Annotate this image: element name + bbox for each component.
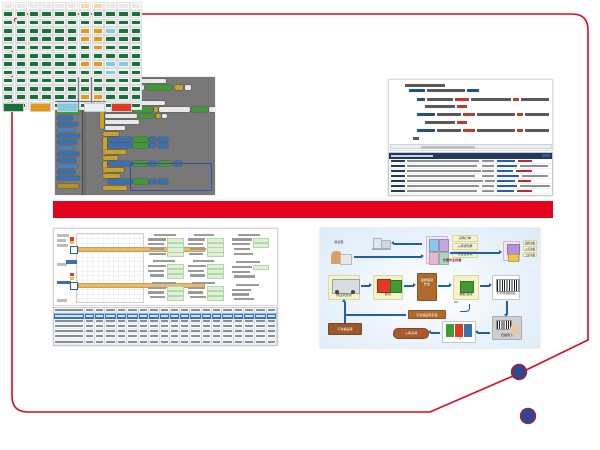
table-cell[interactable] [117, 339, 127, 343]
status-cell[interactable] [15, 77, 27, 85]
status-cell[interactable] [92, 19, 104, 27]
table-cell[interactable] [117, 329, 127, 333]
status-cell[interactable] [79, 77, 91, 85]
status-cell[interactable] [2, 19, 14, 27]
status-cell[interactable] [28, 93, 40, 101]
status-cell[interactable] [15, 35, 27, 43]
status-cell[interactable] [92, 35, 104, 43]
status-cell[interactable] [66, 93, 78, 101]
table-cell[interactable] [127, 345, 139, 346]
table-cell[interactable] [54, 319, 85, 323]
flow-node-mid[interactable] [70, 282, 78, 290]
status-cell[interactable] [28, 2, 40, 10]
node-nonconform-return[interactable]: 不合格品库 [328, 323, 362, 335]
status-cell[interactable] [117, 35, 129, 43]
status-cell[interactable] [28, 77, 40, 85]
table-cell[interactable] [127, 308, 139, 313]
status-cell[interactable] [53, 19, 65, 27]
table-cell[interactable] [170, 324, 180, 328]
status-cell[interactable] [66, 52, 78, 60]
table-cell[interactable] [267, 334, 277, 338]
workspace-block[interactable] [146, 85, 172, 90]
table-cell[interactable] [85, 334, 95, 338]
status-cell[interactable] [28, 19, 40, 27]
table-cell[interactable] [105, 329, 117, 333]
palette-block[interactable] [57, 158, 76, 162]
status-cell[interactable] [28, 60, 40, 68]
status-cell[interactable] [2, 68, 14, 76]
table-cell[interactable] [117, 334, 127, 338]
status-cell[interactable] [2, 10, 14, 18]
status-cell[interactable] [40, 43, 52, 51]
table-cell[interactable] [117, 345, 127, 346]
status-cell[interactable] [40, 19, 52, 27]
node-nonconform-zone[interactable]: 不合格品暂存区 [408, 310, 446, 319]
status-cell[interactable] [28, 52, 40, 60]
status-cell[interactable] [2, 43, 14, 51]
node-report-output[interactable] [503, 241, 520, 261]
table-cell[interactable] [170, 308, 180, 313]
status-cell[interactable] [66, 85, 78, 93]
table-cell[interactable] [85, 345, 95, 346]
status-cell[interactable] [2, 60, 14, 68]
palette-block[interactable] [57, 140, 77, 144]
node-supplier-delivery[interactable]: 供应商送货 [328, 275, 360, 300]
status-cell[interactable] [130, 77, 142, 85]
table-cell[interactable] [95, 319, 105, 323]
status-cell[interactable] [104, 10, 116, 18]
status-cell[interactable] [15, 93, 27, 101]
table-cell[interactable] [244, 345, 256, 346]
status-cell[interactable] [104, 77, 116, 85]
table-cell[interactable] [190, 345, 202, 346]
status-cell[interactable] [40, 2, 52, 10]
status-cell[interactable] [15, 60, 27, 68]
status-cell[interactable] [66, 43, 78, 51]
status-cell[interactable] [53, 27, 65, 35]
status-cell[interactable] [28, 43, 40, 51]
status-cell[interactable] [53, 68, 65, 76]
table-cell[interactable] [234, 319, 244, 323]
status-cell[interactable] [104, 19, 116, 27]
sheet-toolbar-chip[interactable] [57, 239, 66, 242]
sheet-toolbar-chip[interactable] [57, 244, 68, 247]
table-cell[interactable] [54, 329, 85, 333]
workspace-block[interactable] [185, 85, 191, 90]
table-cell[interactable] [105, 324, 117, 328]
status-cell[interactable] [117, 93, 129, 101]
workspace-block[interactable] [158, 137, 168, 142]
table-cell[interactable] [244, 319, 256, 323]
status-cell[interactable] [66, 27, 78, 35]
table-cell[interactable] [54, 334, 85, 338]
panel-flow-diagram[interactable]: 收货员 采购订单 入库通知单 作业任务单 仓储作业终端 [320, 228, 540, 348]
table-cell[interactable] [149, 329, 161, 333]
table-cell[interactable] [127, 334, 139, 338]
status-cell[interactable] [79, 2, 91, 10]
status-cell[interactable] [92, 27, 104, 35]
status-cell[interactable] [130, 10, 142, 18]
node-order-terminal[interactable] [370, 236, 392, 252]
workspace-block[interactable] [209, 107, 215, 112]
status-cell[interactable] [53, 35, 65, 43]
table-cell[interactable] [255, 345, 267, 346]
table-cell[interactable] [139, 319, 149, 323]
table-cell[interactable] [234, 334, 244, 338]
table-cell[interactable] [180, 308, 190, 313]
node-supplier-person[interactable] [328, 248, 352, 268]
table-cell[interactable] [267, 339, 277, 343]
table-cell[interactable] [54, 324, 85, 328]
workspace-block[interactable] [191, 107, 208, 112]
table-cell[interactable] [139, 339, 149, 343]
workspace-block[interactable] [105, 126, 125, 130]
status-cell[interactable] [15, 10, 27, 18]
table-cell[interactable] [180, 319, 190, 323]
table-cell[interactable] [85, 308, 95, 313]
workspace-block[interactable] [105, 120, 139, 124]
workspace-block[interactable] [108, 137, 132, 142]
table-cell[interactable] [267, 308, 277, 313]
status-cell[interactable] [40, 60, 52, 68]
table-cell[interactable] [190, 334, 202, 338]
table-cell[interactable] [54, 308, 85, 313]
table-cell[interactable] [160, 339, 170, 343]
table-cell[interactable] [212, 339, 222, 343]
status-cell[interactable] [2, 77, 14, 85]
table-cell[interactable] [190, 339, 202, 343]
status-cell[interactable] [28, 68, 40, 76]
status-cell[interactable] [117, 27, 129, 35]
node-barcode-scan[interactable]: 扫描录入 [492, 316, 522, 340]
status-cell[interactable] [66, 68, 78, 76]
table-cell[interactable] [127, 324, 139, 328]
table-cell[interactable] [54, 345, 85, 346]
status-cell[interactable] [66, 2, 78, 10]
status-cell[interactable] [15, 68, 27, 76]
table-cell[interactable] [267, 324, 277, 328]
status-cell[interactable] [40, 10, 52, 18]
table-cell[interactable] [170, 329, 180, 333]
table-cell[interactable] [95, 308, 105, 313]
table-cell[interactable] [244, 329, 256, 333]
status-cell[interactable] [117, 68, 129, 76]
table-cell[interactable] [160, 345, 170, 346]
table-cell[interactable] [54, 339, 85, 343]
status-cell[interactable] [15, 27, 27, 35]
workspace-block[interactable] [154, 107, 158, 112]
palette-block[interactable] [57, 134, 80, 138]
table-cell[interactable] [85, 324, 95, 328]
status-cell[interactable] [92, 10, 104, 18]
status-cell[interactable] [117, 2, 129, 10]
schedule-grid[interactable] [76, 233, 144, 303]
node-unloading[interactable]: 卸货 [373, 275, 403, 300]
table-cell[interactable] [222, 308, 234, 313]
table-cell[interactable] [212, 334, 222, 338]
table-cell[interactable] [149, 334, 161, 338]
status-cell[interactable] [2, 85, 14, 93]
table-cell[interactable] [180, 339, 190, 343]
table-cell[interactable] [139, 329, 149, 333]
status-cell[interactable] [53, 77, 65, 85]
node-inbound-complete[interactable]: 入库完成 [393, 328, 429, 339]
status-cell[interactable] [28, 10, 40, 18]
table-cell[interactable] [180, 345, 190, 346]
workspace-block[interactable] [104, 168, 124, 172]
status-cell[interactable] [92, 60, 104, 68]
status-cell[interactable] [130, 27, 142, 35]
table-cell[interactable] [139, 345, 149, 346]
flow-label-chip[interactable] [66, 260, 77, 264]
status-cell[interactable] [104, 60, 116, 68]
table-cell[interactable] [139, 324, 149, 328]
sheet-toolbar-chip[interactable] [57, 281, 71, 284]
status-cell[interactable] [104, 68, 116, 76]
status-cell[interactable] [15, 2, 27, 10]
table-cell[interactable] [190, 329, 202, 333]
status-cell[interactable] [53, 2, 65, 10]
table-cell[interactable] [190, 319, 202, 323]
table-cell[interactable] [160, 324, 170, 328]
milestone-marker[interactable] [70, 241, 74, 244]
table-cell[interactable] [190, 324, 202, 328]
table-cell[interactable] [222, 319, 234, 323]
table-cell[interactable] [160, 308, 170, 313]
status-cell[interactable] [53, 10, 65, 18]
status-cell[interactable] [104, 43, 116, 51]
table-cell[interactable] [202, 319, 212, 323]
status-cell[interactable] [92, 52, 104, 60]
status-cell[interactable] [130, 19, 142, 27]
status-cell[interactable] [15, 19, 27, 27]
table-cell[interactable] [222, 339, 234, 343]
table-cell[interactable] [149, 345, 161, 346]
table-cell[interactable] [255, 308, 267, 313]
status-cell[interactable] [130, 60, 142, 68]
sheet-toolbar-chip[interactable] [57, 299, 67, 302]
palette-block[interactable] [57, 176, 80, 180]
table-cell[interactable] [222, 345, 234, 346]
status-cell[interactable] [92, 2, 104, 10]
table-cell[interactable] [105, 319, 117, 323]
status-cell[interactable] [28, 27, 40, 35]
table-cell[interactable] [117, 308, 127, 313]
status-cell[interactable] [66, 60, 78, 68]
table-cell[interactable] [244, 324, 256, 328]
workspace-block[interactable] [138, 114, 155, 118]
status-cell[interactable] [28, 35, 40, 43]
table-cell[interactable] [180, 334, 190, 338]
status-cell[interactable] [66, 77, 78, 85]
table-cell[interactable] [127, 339, 139, 343]
table-cell[interactable] [170, 339, 180, 343]
status-cell[interactable] [79, 19, 91, 27]
milestone-marker[interactable] [70, 273, 74, 276]
status-cell[interactable] [66, 19, 78, 27]
palette-block[interactable] [57, 184, 79, 188]
code-horizontal-scrollbar[interactable] [390, 144, 552, 149]
table-cell[interactable] [149, 324, 161, 328]
workspace-block[interactable] [133, 143, 148, 148]
status-cell[interactable] [66, 35, 78, 43]
status-cell[interactable] [117, 60, 129, 68]
table-cell[interactable] [234, 339, 244, 343]
workspace-block[interactable] [156, 114, 161, 118]
status-cell[interactable] [130, 2, 142, 10]
status-cell[interactable] [2, 52, 14, 60]
panel-spreadsheet[interactable] [53, 228, 278, 346]
table-cell[interactable] [244, 334, 256, 338]
workspace-block[interactable] [162, 114, 167, 118]
panel-code-editor[interactable] [388, 79, 553, 196]
table-cell[interactable] [139, 334, 149, 338]
status-cell[interactable] [15, 52, 27, 60]
status-cell[interactable] [130, 93, 142, 101]
table-cell[interactable] [202, 339, 212, 343]
status-cell[interactable] [130, 68, 142, 76]
table-cell[interactable] [202, 334, 212, 338]
status-cell[interactable] [79, 85, 91, 93]
status-cell[interactable] [104, 85, 116, 93]
table-cell[interactable] [127, 319, 139, 323]
table-cell[interactable] [234, 329, 244, 333]
status-cell[interactable] [104, 52, 116, 60]
status-cell[interactable] [79, 68, 91, 76]
table-cell[interactable] [149, 339, 161, 343]
status-cell[interactable] [104, 27, 116, 35]
status-cell-grid[interactable] [2, 2, 143, 110]
table-cell[interactable] [85, 329, 95, 333]
status-cell[interactable] [117, 43, 129, 51]
status-cell[interactable] [40, 93, 52, 101]
table-cell[interactable] [222, 334, 234, 338]
status-cell[interactable] [79, 35, 91, 43]
table-cell[interactable] [117, 319, 127, 323]
table-cell[interactable] [180, 329, 190, 333]
planning-chart-area[interactable] [53, 228, 278, 306]
table-cell[interactable] [234, 345, 244, 346]
status-cell[interactable] [92, 43, 104, 51]
table-cell[interactable] [202, 345, 212, 346]
table-cell[interactable] [255, 339, 267, 343]
workspace-block[interactable] [149, 137, 156, 142]
table-cell[interactable] [149, 319, 161, 323]
flow-node-start[interactable] [70, 246, 78, 254]
status-cell[interactable] [40, 68, 52, 76]
status-cell[interactable] [130, 35, 142, 43]
palette-block[interactable] [57, 128, 75, 132]
table-cell[interactable] [202, 324, 212, 328]
workspace-block[interactable] [108, 143, 132, 148]
workspace-block[interactable] [158, 143, 168, 148]
table-cell[interactable] [244, 308, 256, 313]
palette-block[interactable] [57, 116, 73, 120]
workspace-block[interactable] [103, 132, 119, 136]
workspace-block[interactable] [108, 161, 132, 166]
status-cell[interactable] [92, 77, 104, 85]
status-cell[interactable] [117, 10, 129, 18]
status-cell[interactable] [40, 52, 52, 60]
table-cell[interactable] [160, 319, 170, 323]
status-cell[interactable] [92, 93, 104, 101]
status-cell[interactable] [104, 35, 116, 43]
palette-block[interactable] [57, 122, 78, 126]
status-cell[interactable] [53, 85, 65, 93]
status-cell[interactable] [40, 85, 52, 93]
table-cell[interactable] [95, 345, 105, 346]
workspace-block[interactable] [149, 143, 156, 148]
workspace-block[interactable] [133, 137, 148, 142]
table-cell[interactable] [222, 324, 234, 328]
workspace-block[interactable] [175, 85, 183, 90]
table-cell[interactable] [212, 319, 222, 323]
status-cell[interactable] [15, 85, 27, 93]
table-cell[interactable] [234, 324, 244, 328]
status-cell[interactable] [130, 85, 142, 93]
workspace-block[interactable] [104, 150, 126, 154]
status-cell[interactable] [117, 19, 129, 27]
status-cell[interactable] [2, 2, 14, 10]
status-cell[interactable] [79, 43, 91, 51]
table-cell[interactable] [202, 308, 212, 313]
workspace-block[interactable] [103, 174, 120, 178]
table-cell[interactable] [255, 324, 267, 328]
table-cell[interactable] [222, 329, 234, 333]
table-cell[interactable] [139, 308, 149, 313]
status-cell[interactable] [130, 52, 142, 60]
palette-block[interactable] [57, 146, 74, 150]
status-cell[interactable] [66, 10, 78, 18]
console-log-panel[interactable] [388, 152, 553, 196]
table-cell[interactable] [267, 329, 277, 333]
table-cell[interactable] [255, 319, 267, 323]
status-cell[interactable] [130, 43, 142, 51]
table-cell[interactable] [105, 334, 117, 338]
node-sample-check[interactable]: 抽检 验货 [453, 275, 479, 300]
table-cell[interactable] [267, 345, 277, 346]
table-cell[interactable] [105, 308, 117, 313]
status-cell[interactable] [92, 68, 104, 76]
table-row[interactable] [54, 345, 277, 346]
gantt-bar[interactable] [78, 283, 205, 288]
node-shelving[interactable]: 上架 [442, 321, 476, 343]
table-cell[interactable] [255, 334, 267, 338]
close-icon[interactable] [542, 154, 550, 157]
status-cell[interactable] [53, 93, 65, 101]
table-cell[interactable] [190, 308, 202, 313]
palette-block[interactable] [57, 170, 75, 174]
status-cell[interactable] [117, 77, 129, 85]
workspace-block[interactable] [103, 186, 127, 190]
workspace-block[interactable] [103, 156, 118, 160]
status-cell[interactable] [53, 43, 65, 51]
status-cell[interactable] [79, 60, 91, 68]
palette-block[interactable] [57, 152, 79, 156]
table-cell[interactable] [180, 324, 190, 328]
status-cell[interactable] [40, 35, 52, 43]
palette-block[interactable] [57, 164, 78, 168]
code-editor-area[interactable] [388, 79, 553, 151]
data-table[interactable] [53, 307, 278, 346]
table-cell[interactable] [244, 339, 256, 343]
table-cell[interactable] [95, 334, 105, 338]
table-cell[interactable] [160, 329, 170, 333]
table-cell[interactable] [127, 329, 139, 333]
table-cell[interactable] [160, 334, 170, 338]
table-cell[interactable] [105, 339, 117, 343]
table-cell[interactable] [95, 339, 105, 343]
